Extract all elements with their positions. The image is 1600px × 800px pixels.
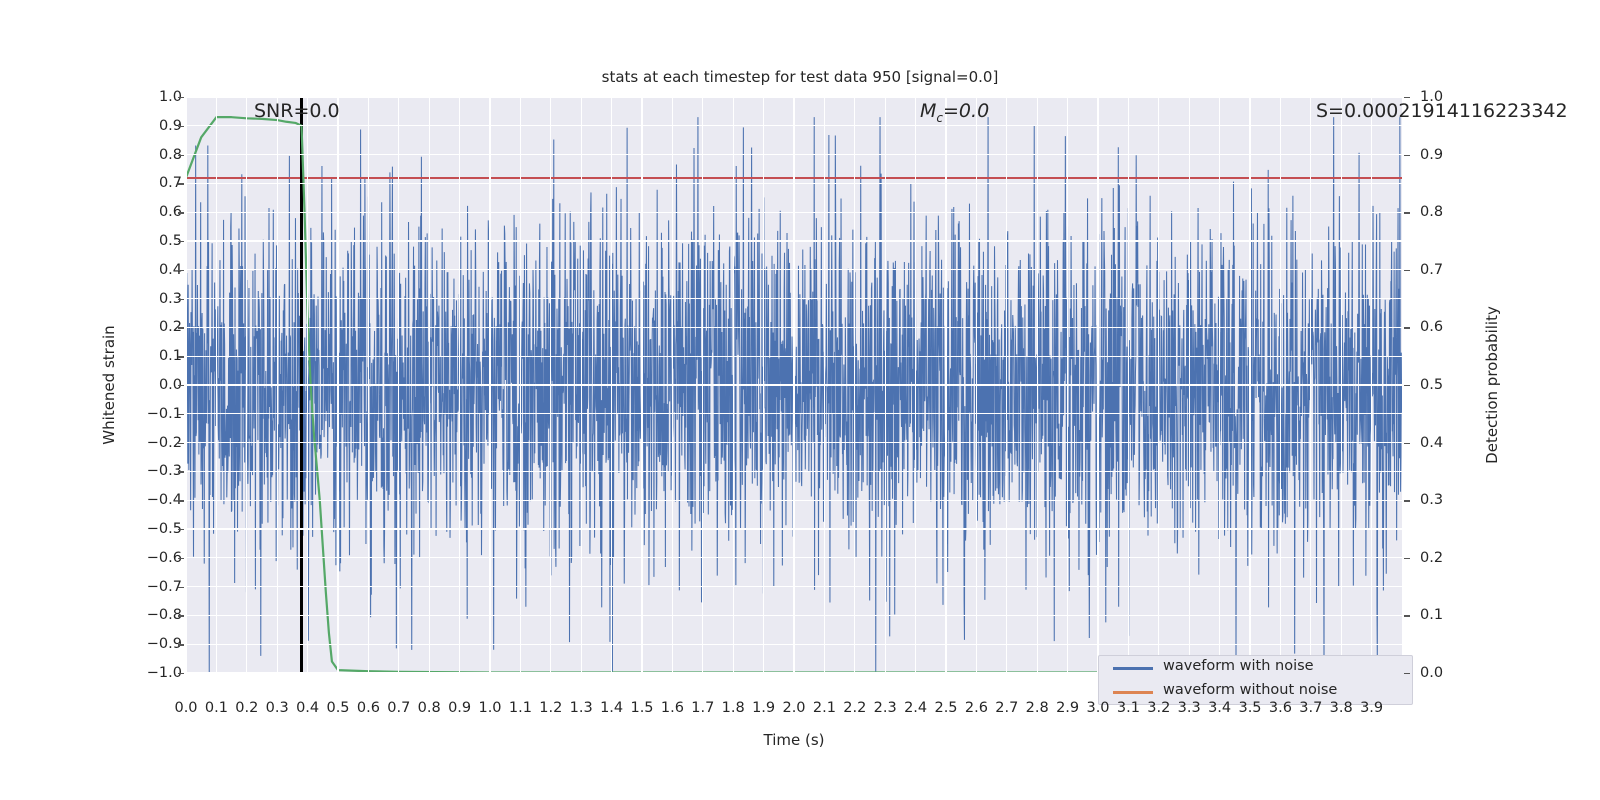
x-tick-label: 0.8 <box>418 700 441 716</box>
y-tick-label-right: 0.2 <box>1420 550 1443 566</box>
gridline-vertical <box>581 97 582 673</box>
gridline-vertical <box>763 97 764 673</box>
x-tick-label: 3.2 <box>1147 700 1170 716</box>
legend-item[interactable]: waveform with noise <box>1099 656 1412 680</box>
y-tick-mark-left <box>178 155 184 156</box>
y-tick-label-left: −0.8 <box>147 607 182 623</box>
x-tick-label: 2.8 <box>1026 700 1049 716</box>
x-tick-label: 3.4 <box>1208 700 1231 716</box>
x-tick-label: 1.3 <box>570 700 593 716</box>
x-tick-label: 3.3 <box>1178 700 1201 716</box>
y-tick-mark-left <box>178 500 184 501</box>
legend-label: waveform without noise <box>1163 682 1337 698</box>
y-tick-label-left: −0.5 <box>147 521 182 537</box>
gridline-vertical <box>1341 97 1342 673</box>
x-tick-label: 3.7 <box>1299 700 1322 716</box>
gridline-vertical <box>672 97 673 673</box>
x-tick-label: 0.6 <box>357 700 380 716</box>
y-tick-label-left: −0.2 <box>147 435 182 451</box>
y-tick-label-left: −0.4 <box>147 492 182 508</box>
detection-probability-path <box>186 117 1387 672</box>
y-tick-label-right: 0.4 <box>1420 435 1443 451</box>
y-tick-mark-right <box>1404 327 1410 328</box>
y-tick-mark-left <box>178 529 184 530</box>
gridline-vertical <box>1037 97 1038 673</box>
y-tick-mark-left <box>178 97 184 98</box>
y-tick-label-right: 0.8 <box>1420 204 1443 220</box>
y-tick-mark-left <box>178 299 184 300</box>
gridline-vertical <box>1189 97 1190 673</box>
y-tick-label-right: 0.0 <box>1420 665 1443 681</box>
x-tick-label: 0.2 <box>235 700 258 716</box>
x-tick-label: 3.5 <box>1238 700 1261 716</box>
gridline-vertical <box>429 97 430 673</box>
gridline-vertical <box>185 97 186 673</box>
legend: waveform with noisewaveform without nois… <box>1098 655 1413 705</box>
gridline-vertical <box>1158 97 1159 673</box>
x-tick-label: 0.3 <box>266 700 289 716</box>
y-tick-mark-left <box>178 126 184 127</box>
gridline-vertical <box>277 97 278 673</box>
x-tick-label: 3.1 <box>1117 700 1140 716</box>
x-tick-label: 2.3 <box>874 700 897 716</box>
y-tick-label-right: 0.7 <box>1420 262 1443 278</box>
legend-label: waveform with noise <box>1163 658 1314 674</box>
x-tick-label: 0.9 <box>448 700 471 716</box>
y-tick-mark-right <box>1404 270 1410 271</box>
y-tick-mark-left <box>178 471 184 472</box>
gridline-vertical <box>368 97 369 673</box>
gridline-vertical <box>915 97 916 673</box>
y-tick-label-left: −0.1 <box>147 406 182 422</box>
gridline-vertical <box>1249 97 1250 673</box>
gridline-vertical <box>398 97 399 673</box>
x-tick-label: 1.6 <box>661 700 684 716</box>
x-tick-label: 0.1 <box>205 700 228 716</box>
gridline-vertical <box>733 97 734 673</box>
gridline-vertical <box>1371 97 1372 673</box>
gridline-vertical <box>702 97 703 673</box>
x-tick-label: 3.8 <box>1330 700 1353 716</box>
x-tick-label: 0.0 <box>174 700 197 716</box>
annotation-snr: SNR=0.0 <box>254 100 340 122</box>
y-tick-label-left: −0.6 <box>147 550 182 566</box>
x-tick-label: 2.5 <box>934 700 957 716</box>
x-tick-label: 1.7 <box>691 700 714 716</box>
y-tick-label-right: 0.5 <box>1420 377 1443 393</box>
y-tick-mark-right <box>1404 500 1410 501</box>
x-tick-label: 1.5 <box>630 700 653 716</box>
y-tick-mark-left <box>178 615 184 616</box>
x-tick-label: 1.1 <box>509 700 532 716</box>
gridline-vertical <box>246 97 247 673</box>
chirp-mass-value: =0.0 <box>943 100 989 122</box>
x-tick-label: 3.9 <box>1360 700 1383 716</box>
gridline-vertical <box>337 97 338 673</box>
y-tick-mark-left <box>178 327 184 328</box>
gridline-vertical <box>824 97 825 673</box>
y-tick-mark-left <box>178 385 184 386</box>
x-tick-label: 0.5 <box>326 700 349 716</box>
y-tick-label-left: −0.3 <box>147 463 182 479</box>
x-tick-label: 1.0 <box>478 700 501 716</box>
x-tick-label: 2.9 <box>1056 700 1079 716</box>
gridline-vertical <box>885 97 886 673</box>
y-tick-label-right: 1.0 <box>1420 89 1443 105</box>
gridline-vertical <box>793 97 794 673</box>
gridline-vertical <box>216 97 217 673</box>
y-tick-mark-left <box>178 241 184 242</box>
y-axis-label-right: Detection probability <box>1483 306 1501 464</box>
gridline-vertical <box>520 97 521 673</box>
y-tick-mark-left <box>178 443 184 444</box>
y-tick-mark-right <box>1404 212 1410 213</box>
y-axis-label-left: Whitened strain <box>100 325 118 444</box>
gridline-vertical <box>307 97 308 673</box>
gridline-vertical <box>1219 97 1220 673</box>
x-tick-label: 0.4 <box>296 700 319 716</box>
x-tick-label: 1.9 <box>752 700 775 716</box>
x-tick-label: 3.0 <box>1086 700 1109 716</box>
gridline-vertical <box>1067 97 1068 673</box>
gridline-vertical <box>550 97 551 673</box>
x-tick-label: 3.6 <box>1269 700 1292 716</box>
x-tick-label: 1.4 <box>600 700 623 716</box>
y-tick-mark-left <box>178 212 184 213</box>
y-tick-mark-left <box>178 587 184 588</box>
chart-title: stats at each timestep for test data 950… <box>0 68 1600 86</box>
x-tick-label: 2.7 <box>995 700 1018 716</box>
figure-canvas: stats at each timestep for test data 950… <box>0 0 1600 800</box>
y-tick-mark-left <box>178 414 184 415</box>
y-tick-label-left: −0.7 <box>147 579 182 595</box>
y-tick-mark-right <box>1404 443 1410 444</box>
y-tick-label-right: 0.3 <box>1420 492 1443 508</box>
gridline-vertical <box>1097 97 1098 673</box>
x-tick-label: 2.0 <box>782 700 805 716</box>
y-tick-mark-right <box>1404 615 1410 616</box>
y-tick-label-right: 0.9 <box>1420 147 1443 163</box>
gridline-vertical <box>641 97 642 673</box>
gridline-vertical <box>1310 97 1311 673</box>
x-tick-label: 1.8 <box>722 700 745 716</box>
plot-area <box>186 97 1402 673</box>
y-tick-label-right: 0.6 <box>1420 319 1443 335</box>
x-tick-label: 0.7 <box>387 700 410 716</box>
gridline-vertical <box>1128 97 1129 673</box>
y-tick-mark-right <box>1404 97 1410 98</box>
gridline-vertical <box>459 97 460 673</box>
legend-color-swatch <box>1113 691 1153 694</box>
y-tick-mark-right <box>1404 673 1410 674</box>
legend-color-swatch <box>1113 667 1153 670</box>
gridline-vertical <box>976 97 977 673</box>
y-tick-label-left: −0.9 <box>147 636 182 652</box>
y-tick-mark-left <box>178 644 184 645</box>
annotation-chirp-mass: Mc=0.0 <box>920 100 989 125</box>
gridline-vertical <box>489 97 490 673</box>
y-tick-label-right: 0.1 <box>1420 607 1443 623</box>
y-tick-mark-left <box>178 270 184 271</box>
x-tick-label: 2.1 <box>813 700 836 716</box>
chirp-mass-symbol: M <box>920 100 936 122</box>
y-tick-mark-right <box>1404 385 1410 386</box>
gridline-vertical <box>854 97 855 673</box>
gridline-vertical <box>1280 97 1281 673</box>
x-tick-label: 2.2 <box>843 700 866 716</box>
gridline-vertical <box>1006 97 1007 673</box>
y-tick-mark-left <box>178 673 184 674</box>
x-tick-label: 2.4 <box>904 700 927 716</box>
y-tick-mark-left <box>178 558 184 559</box>
x-axis-label: Time (s) <box>186 731 1402 749</box>
gridline-vertical <box>945 97 946 673</box>
y-tick-mark-left <box>178 356 184 357</box>
y-tick-mark-right <box>1404 558 1410 559</box>
x-tick-label: 2.6 <box>965 700 988 716</box>
gridline-vertical <box>611 97 612 673</box>
y-tick-mark-right <box>1404 155 1410 156</box>
y-tick-mark-left <box>178 183 184 184</box>
y-tick-label-left: −1.0 <box>147 665 182 681</box>
x-tick-label: 1.2 <box>539 700 562 716</box>
